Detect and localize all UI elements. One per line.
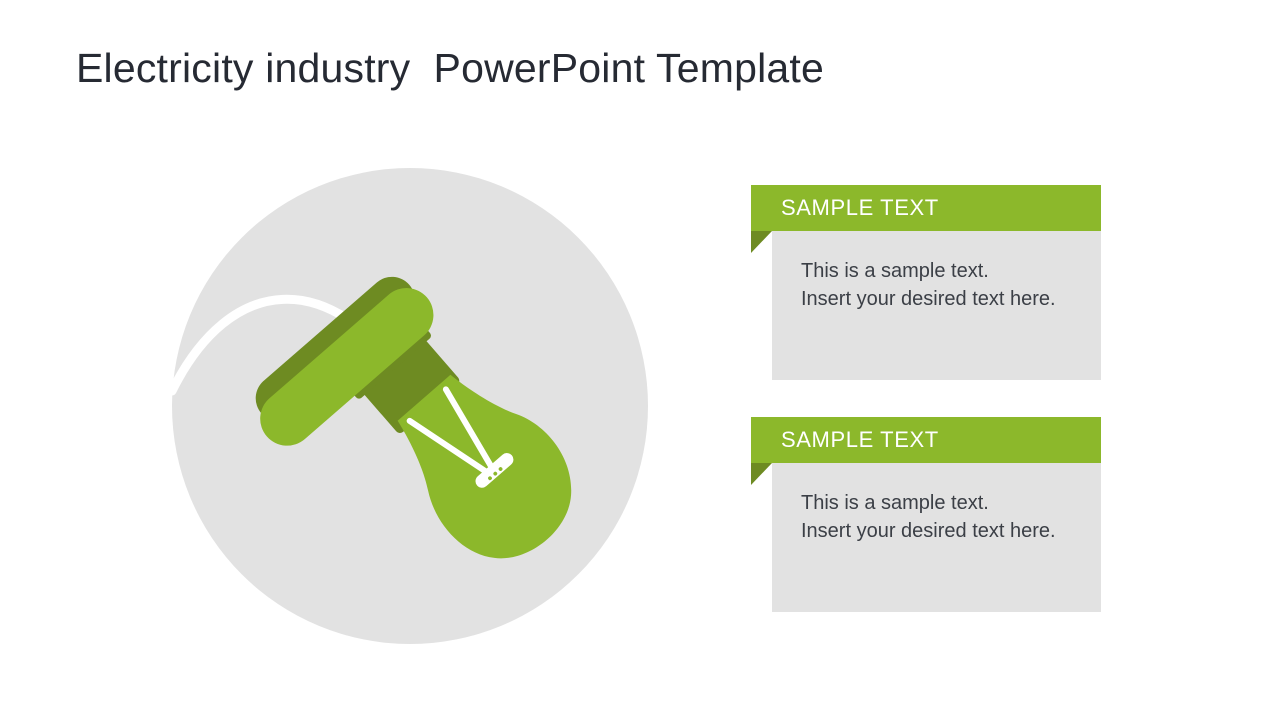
hanging-light-bulb-illustration [160, 156, 660, 656]
info-card-header: SAMPLE TEXT [751, 185, 1101, 231]
info-card-body: This is a sample text. Insert your desir… [772, 231, 1101, 380]
info-card-body-text: This is a sample text. Insert your desir… [801, 257, 1075, 313]
page-title: Electricity industry PowerPoint Template [76, 42, 824, 94]
info-card-body-text: This is a sample text. Insert your desir… [801, 489, 1075, 545]
info-card[interactable]: SAMPLE TEXT This is a sample text. Inser… [751, 185, 1101, 380]
card-fold-triangle [751, 463, 772, 485]
info-card-header: SAMPLE TEXT [751, 417, 1101, 463]
card-fold-triangle [751, 231, 772, 253]
info-card-header-label: SAMPLE TEXT [781, 195, 939, 221]
info-card[interactable]: SAMPLE TEXT This is a sample text. Inser… [751, 417, 1101, 612]
info-card-header-label: SAMPLE TEXT [781, 427, 939, 453]
info-card-body: This is a sample text. Insert your desir… [772, 463, 1101, 612]
